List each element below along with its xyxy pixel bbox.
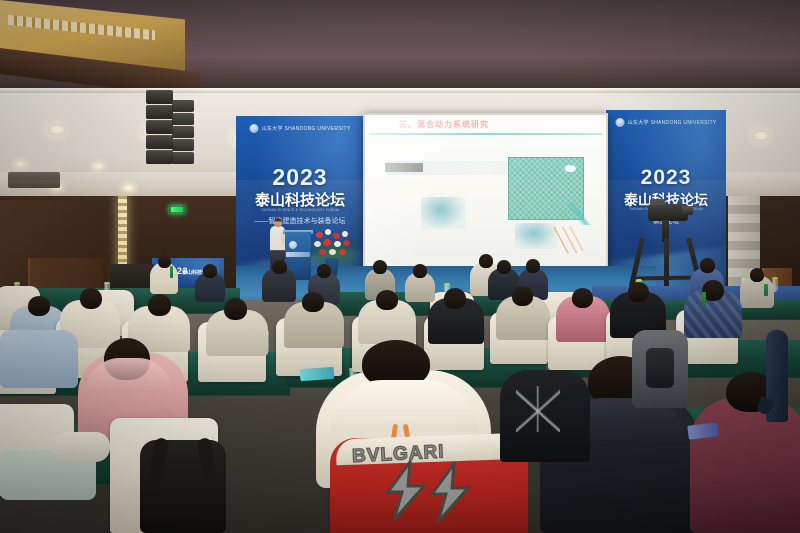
attendee-head [413,264,427,278]
clothing-item [52,432,110,462]
backpack-pocket [646,348,674,388]
attendee-head [497,260,511,274]
attendee-head [317,264,331,278]
recessed-downlight [48,124,66,135]
flower-arrangement [312,228,354,262]
projection-screen: 三、混合动力系统研究 [363,113,608,275]
attendee-head [750,268,764,282]
banner-year: 2023 [641,166,692,190]
banner-subtitle-cn: ——智能建造技术与装备论坛 [255,216,346,226]
exit-sign [168,205,186,214]
attendee-head [373,260,387,274]
university-crest-icon [616,118,625,127]
camera-lens-hood [682,206,693,215]
handout-paper[interactable] [300,367,335,381]
university-crest-icon [289,241,297,249]
university-logo-text: 山东大学 SHANDONG UNIVERSITY [262,125,351,132]
banner-year: 2023 [272,164,327,191]
line-array-speaker [172,100,194,162]
name-badge-lanyard [764,284,768,296]
lectern-nameplate [286,252,310,257]
slide-title: 三、混合动力系统研究 [399,119,489,130]
projection-screen-surface: 三、混合动力系统研究 [365,115,606,273]
presenter-head [274,218,282,227]
jacket-on-chair [0,330,78,388]
university-logo-text: 山东大学 SHANDONG UNIVERSITY [628,119,717,126]
ceiling-vent [8,172,60,188]
slide-grey-bar [385,163,423,172]
slide-orange-accents [543,227,583,253]
recessed-downlight [752,130,770,141]
conference-hall-photo: 山东大学 SHANDONG UNIVERSITY 2023 泰山科技论坛 TAI… [0,0,800,533]
attendee-head [526,259,540,273]
banner-title: 泰山科技论坛 [255,189,345,210]
attendee-head [224,298,247,320]
banner-subtitle-en: TAISHAN SCIENCE & TECHNOLOGY FORUM [261,208,339,212]
jacket-graphic [516,386,560,432]
university-crest-icon [250,124,259,133]
camera-viewfinder [650,199,665,205]
attendee-head [80,288,102,309]
exit-sign-glow [171,207,183,212]
recessed-downlight [122,184,135,192]
attendee-head [203,264,217,278]
attendee-head [376,290,398,310]
attendee-head [444,288,466,309]
attendee-head [628,282,649,302]
slide-figure-mechanism [421,197,465,229]
recessed-downlight [14,160,27,168]
attendee-head [272,260,287,274]
lightning-bolt-icon [424,462,476,524]
attendee-head [700,258,715,273]
slide-accent-streak [561,203,595,225]
attendee-head [572,288,593,308]
slide-divider [369,133,602,135]
attendee-head [512,286,533,306]
line-array-speaker [146,90,173,165]
name-badge-lanyard [170,266,173,278]
university-logo: 山东大学 SHANDONG UNIVERSITY [616,118,717,127]
attendee-head [302,292,324,312]
attendee-head [479,254,493,268]
attendee-head [148,294,171,316]
soffit-edge [0,88,800,93]
recessed-downlight [92,162,105,170]
university-logo: 山东大学 SHANDONG UNIVERSITY [250,124,351,133]
name-badge-lanyard [702,292,706,306]
attendee-head [28,296,50,316]
